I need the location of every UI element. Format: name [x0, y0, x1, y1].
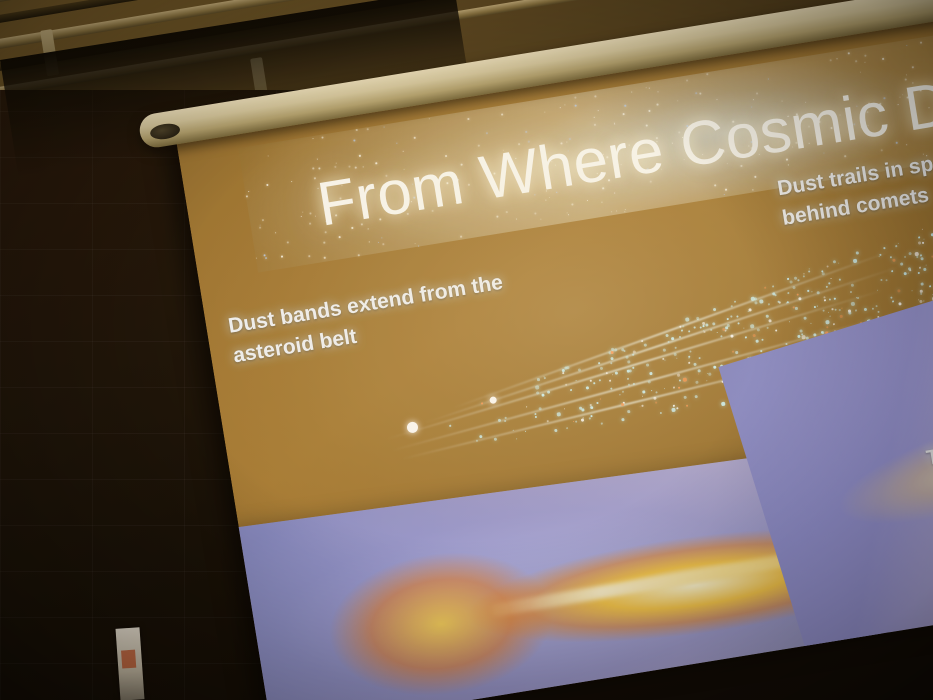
photo-scene: From Where Cosmic Dus Dust bands extend …: [0, 0, 933, 700]
small-sign: [116, 627, 145, 700]
roller-end-cap: [149, 122, 181, 142]
ceiling-rail: [0, 0, 933, 5]
